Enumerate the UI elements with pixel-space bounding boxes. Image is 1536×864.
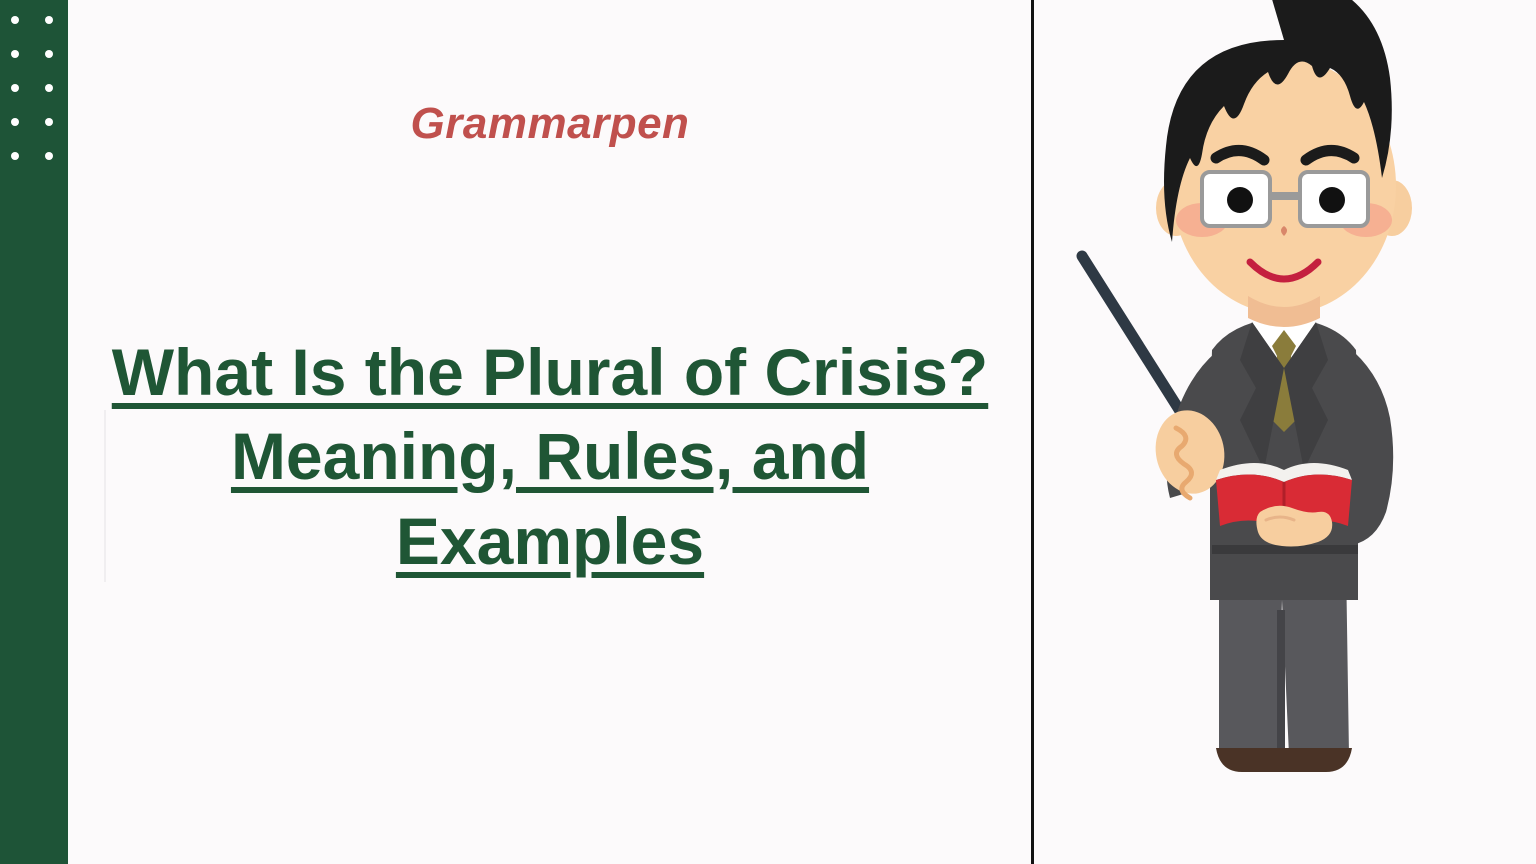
dot (11, 152, 19, 160)
teacher-illustration-svg (1034, 0, 1536, 864)
head (1164, 0, 1396, 314)
dot (45, 84, 53, 92)
slide-canvas: Grammarpen What Is the Plural of Crisis?… (0, 0, 1536, 864)
title-line-3-text: Examples (396, 504, 704, 578)
shoes (1216, 748, 1352, 772)
suit-jacket (1210, 314, 1358, 600)
dot (11, 16, 19, 24)
dot (11, 118, 19, 126)
brand-name: Grammarpen (68, 100, 1032, 148)
title-line-2-text: Meaning, Rules, and (231, 419, 869, 493)
eye-left (1227, 187, 1253, 213)
teacher-illustration (1034, 0, 1536, 864)
page-title: What Is the Plural of Crisis? Meaning, R… (68, 330, 1032, 583)
dot (45, 16, 53, 24)
dot (11, 84, 19, 92)
title-line-3: Examples (68, 499, 1032, 583)
dot-grid-decoration (0, 0, 68, 200)
title-line-1: What Is the Plural of Crisis? (68, 330, 1032, 414)
title-line-1-text: What Is the Plural of Crisis? (112, 335, 988, 409)
eye-right (1319, 187, 1345, 213)
dot (11, 50, 19, 58)
pointer-stick-icon (1082, 256, 1192, 430)
dot (45, 50, 53, 58)
title-line-2: Meaning, Rules, and (68, 414, 1032, 498)
hand-holding-book (1256, 506, 1332, 547)
dot (45, 118, 53, 126)
dot (45, 152, 53, 160)
left-accent-bar (0, 0, 68, 864)
